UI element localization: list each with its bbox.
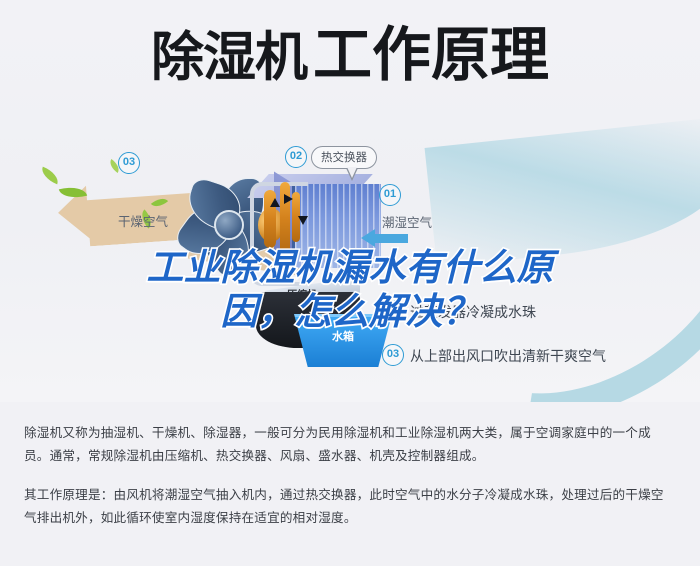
article-paragraph-1: 除湿机又称为抽湿机、干燥机、除湿器，一般可分为民用除湿机和工业除湿机两大类，属于…: [0, 402, 700, 468]
badge-01-moist-air: 01: [379, 184, 401, 206]
overlay-headline: 工业除湿机漏水有什么原 因，怎么解决？: [0, 246, 700, 334]
article-paragraph-2: 其工作原理是：由风机将潮湿空气抽入机内，通过热交换器，此时空气中的水分子冷凝成水…: [0, 468, 700, 530]
badge-02-heat-exchanger: 02: [285, 146, 307, 168]
intake-air-arrow-icon: [374, 234, 408, 243]
caption-dry-air: 干燥空气: [118, 211, 168, 230]
page-root: 除湿机工作原理: [0, 0, 700, 566]
page-title: 除湿机工作原理: [0, 22, 700, 91]
fan-hub: [214, 210, 244, 240]
heat-exchanger-callout: 热交换器: [311, 146, 377, 169]
article-body: 除湿机又称为抽湿机、干燥机、除湿器，一般可分为民用除湿机和工业除湿机两大类，属于…: [0, 402, 700, 566]
legend-text-03: 从上部出风口吹出清新干爽空气: [410, 346, 606, 366]
page-title-part1: 除湿机: [151, 28, 307, 87]
refrigerant-pipe: [280, 182, 290, 254]
legend-badge-03: 03: [382, 344, 404, 366]
caption-moist-air: 潮湿空气: [382, 212, 432, 231]
leaf-icon: [39, 167, 62, 185]
flow-arrow-right-icon: [284, 194, 293, 204]
overlay-headline-line1: 工业除湿机漏水有什么原: [0, 246, 700, 290]
hero-infographic: 除湿机工作原理: [0, 0, 700, 402]
flow-arrow-down-icon: [298, 216, 308, 225]
page-title-part2: 工作原理: [313, 22, 549, 88]
badge-03-dry-air: 03: [118, 152, 140, 174]
flow-arrow-up-icon: [270, 198, 280, 207]
overlay-headline-line2: 因，怎么解决？: [0, 290, 700, 334]
